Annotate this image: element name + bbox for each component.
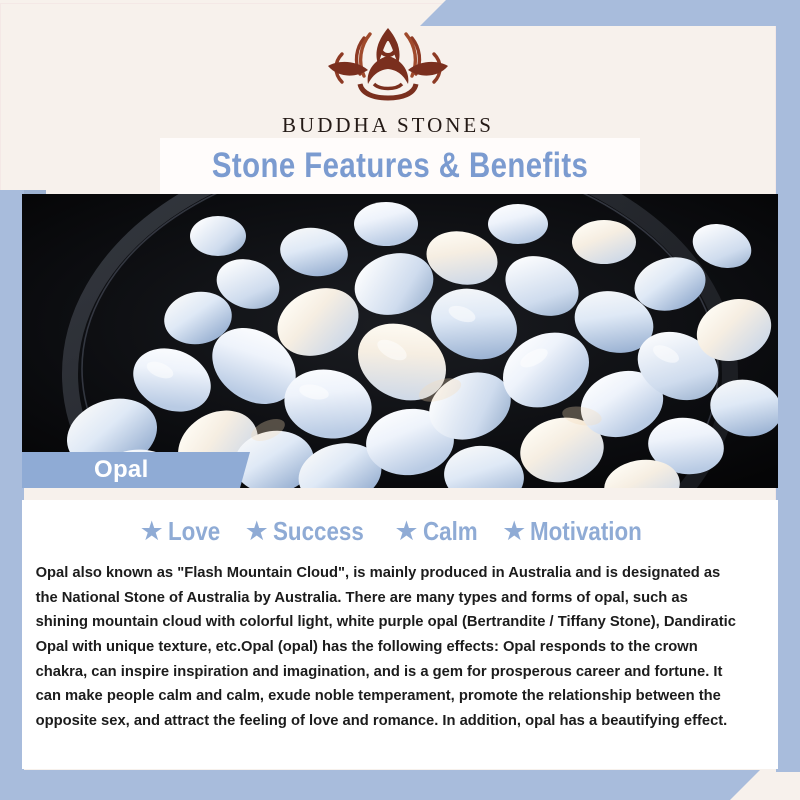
benefit-label: Motivation	[530, 516, 642, 547]
frame-border-left	[0, 190, 24, 800]
benefit-label: Calm	[423, 516, 478, 547]
brand-logo: BUDDHA STONES	[0, 14, 776, 138]
star-icon: ★	[394, 518, 418, 545]
star-icon: ★	[140, 518, 164, 545]
benefit-label: Success	[273, 516, 364, 547]
brand-name: BUDDHA STONES	[0, 113, 776, 138]
content-panel: ★ Love ★ Success ★ Calm ★ Motivation Opa…	[22, 500, 778, 769]
benefit-label: Love	[168, 516, 220, 547]
benefits-row: ★ Love ★ Success ★ Calm ★ Motivation	[22, 500, 778, 547]
benefit-success: ★ Success	[245, 516, 379, 547]
infographic-page: BUDDHA STONES Stone Features & Benefits	[0, 0, 800, 800]
star-icon: ★	[502, 518, 526, 545]
corner-wedge-bottom-left	[0, 770, 760, 800]
benefit-love: ★ Love	[140, 516, 229, 547]
opal-stones-illustration	[22, 194, 778, 488]
benefit-motivation: ★ Motivation	[502, 516, 660, 547]
star-icon: ★	[245, 518, 269, 545]
lotus-meditation-figure-icon	[298, 14, 478, 106]
page-title: Stone Features & Benefits	[212, 146, 588, 186]
stone-description: Opal also known as "Flash Mountain Cloud…	[22, 547, 755, 733]
stone-name-label: Opal	[22, 456, 149, 484]
stone-name-banner: Opal	[22, 452, 250, 488]
benefit-calm: ★ Calm	[394, 516, 486, 547]
title-banner: Stone Features & Benefits	[160, 138, 640, 194]
product-photo	[22, 194, 778, 488]
frame-border-right	[776, 0, 800, 772]
